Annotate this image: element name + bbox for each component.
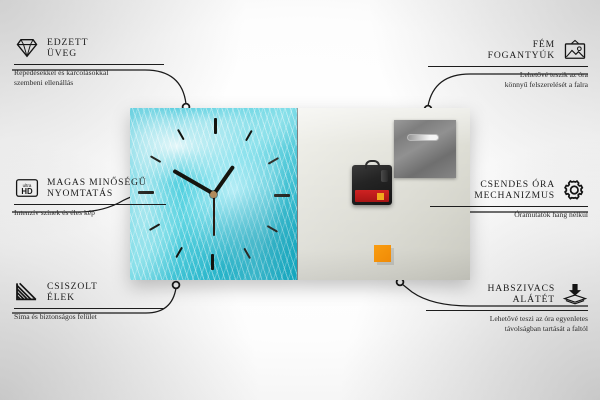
feature-description: Lehetővé teszi az óra egyenletes távolsá…	[426, 314, 588, 334]
ultra-hd-icon: ultra HD	[14, 176, 40, 200]
feature-title: EDZETT ÜVEG	[47, 37, 88, 60]
mechanism-setting-dial	[381, 170, 388, 182]
divider	[426, 310, 588, 311]
connector-dot-csiszolt-elek	[173, 282, 180, 289]
divider	[430, 206, 588, 207]
feature-title: CSENDES ÓRA MECHANIZMUS	[474, 179, 555, 202]
feature-magas-minosegu-nyomtatas: ultra HD MAGAS MINŐSÉGŰ NYOMTATÁS Intenz…	[14, 176, 166, 218]
foam-spacer-pad	[374, 245, 391, 262]
feature-csendes-ora-mechanizmus: CSENDES ÓRA MECHANIZMUS Óramutatók hang …	[430, 178, 588, 220]
divider	[428, 66, 588, 67]
mechanism-hook	[365, 160, 380, 169]
feature-title: CSISZOLT ÉLEK	[47, 281, 98, 304]
feature-title: HABSZIVACS ALÁTÉT	[488, 283, 556, 306]
battery-compartment	[355, 190, 389, 202]
battery-terminal	[377, 193, 384, 200]
feature-habszivacs-alatet: HABSZIVACS ALÁTÉT Lehetővé teszi az óra …	[426, 282, 588, 334]
foam-layers-icon	[562, 282, 588, 306]
feature-description: Lehetővé teszik az óra könnyű felszerelé…	[428, 70, 588, 90]
feature-csiszolt-elek: CSISZOLT ÉLEK Sima és biztonságos felüle…	[14, 280, 164, 322]
quartz-mechanism	[352, 165, 392, 205]
bevelled-edge-icon	[14, 280, 40, 304]
hand-center-cap	[210, 191, 217, 198]
divider	[14, 308, 164, 309]
infographic-canvas: EDZETT ÜVEG Repedésekkel és karcolásokka…	[0, 0, 600, 400]
svg-text:HD: HD	[21, 187, 33, 196]
feature-fem-fogantyuk: FÉM FOGANTYÚK Lehetővé teszik az óra kön…	[428, 38, 588, 90]
diamond-icon	[14, 36, 40, 60]
feature-description: Intenzív színek és éles kép	[14, 208, 166, 218]
wall-hanger-icon	[562, 38, 588, 62]
feature-description: Repedésekkel és karcolásokkal szembeni e…	[14, 68, 164, 88]
metal-hanger-plate	[394, 120, 456, 178]
hanger-slot	[407, 134, 439, 141]
product-image	[130, 108, 470, 280]
gear-icon	[562, 178, 588, 202]
feature-description: Óramutatók hang nélkül	[430, 210, 588, 220]
feature-title: MAGAS MINŐSÉGŰ NYOMTATÁS	[47, 177, 147, 200]
feature-edzett-uveg: EDZETT ÜVEG Repedésekkel és karcolásokka…	[14, 36, 164, 88]
feature-description: Sima és biztonságos felület	[14, 312, 164, 322]
feature-title: FÉM FOGANTYÚK	[488, 39, 555, 62]
divider	[14, 204, 166, 205]
divider	[14, 64, 164, 65]
